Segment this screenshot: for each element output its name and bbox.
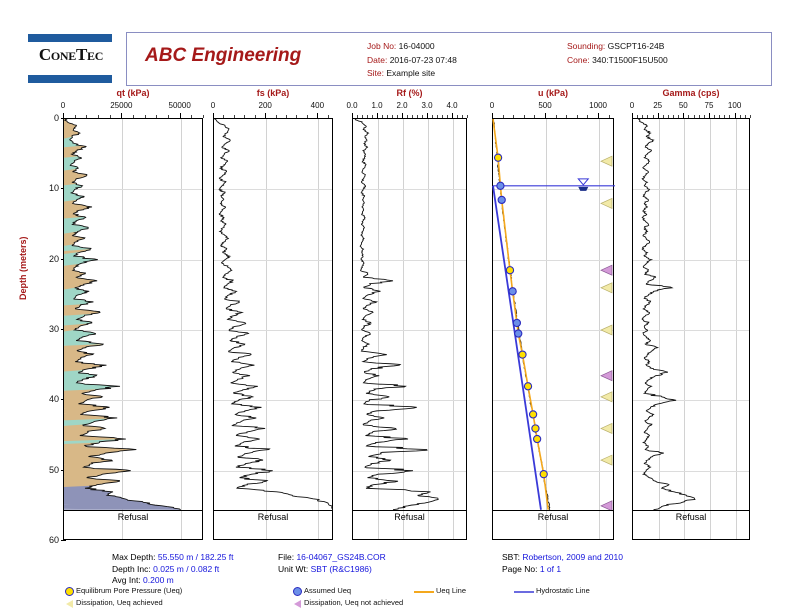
footer-field-depth-inc: Depth Inc: 0.025 m / 0.082 ft bbox=[112, 564, 233, 576]
header-info-box: ABC Engineering Job No: 16-04000 Date: 2… bbox=[126, 32, 772, 86]
refusal-line bbox=[64, 510, 202, 511]
axis-minor-tick bbox=[328, 115, 329, 118]
refusal-label: Refusal bbox=[64, 512, 202, 522]
company-name: ABC Engineering bbox=[145, 45, 301, 67]
refusal-line bbox=[214, 510, 332, 511]
ueq-line bbox=[493, 119, 548, 510]
tick-label-fs-1: 200 bbox=[258, 101, 271, 110]
axis-minor-tick bbox=[699, 115, 700, 118]
curve-qt bbox=[64, 119, 204, 541]
axis-minor-tick bbox=[86, 115, 87, 118]
axis-minor-tick bbox=[244, 115, 245, 118]
axis-minor-tick bbox=[513, 115, 514, 118]
curve-Rf bbox=[353, 119, 468, 541]
axis-minor-tick bbox=[637, 115, 638, 118]
legend-label-0: Equilibrum Pore Pressure (Ueq) bbox=[76, 586, 182, 595]
logo-bar-bottom bbox=[28, 75, 112, 83]
axis-minor-tick bbox=[447, 115, 448, 118]
tick-label-u-0: 0 bbox=[490, 101, 494, 110]
tick-label-qt-2: 50000 bbox=[169, 101, 191, 110]
axis-minor-tick bbox=[422, 115, 423, 118]
tick-label-fs-0: 0 bbox=[211, 101, 215, 110]
sbt-band bbox=[64, 252, 98, 267]
axis-minor-tick bbox=[704, 115, 705, 118]
tick-label-qt-0: 0 bbox=[61, 101, 65, 110]
footer-field-file-value: 16-04067_GS24B.COR bbox=[296, 552, 385, 562]
axis-minor-tick bbox=[688, 115, 689, 118]
hydrostatic-line-icon bbox=[512, 587, 536, 596]
footer-field-max-depth-key: Max Depth: bbox=[112, 552, 155, 562]
footer-field-avg-int-key: Avg Int: bbox=[112, 575, 141, 585]
axis-major-tick bbox=[352, 113, 353, 118]
dissipation-not-achieved-marker[interactable] bbox=[601, 265, 612, 275]
equilibrium-pore-pressure-icon bbox=[62, 586, 76, 596]
legend-label-5: Hydrostatic Line bbox=[536, 586, 590, 595]
footer-field-page-no-key: Page No: bbox=[502, 564, 537, 574]
legend-item-dissipation-not-achieved: Dissipation, Ueq not achieved bbox=[290, 598, 403, 608]
header-field-job-no-key: Job No: bbox=[367, 41, 396, 51]
logo-bar-top bbox=[28, 34, 112, 42]
axis-minor-tick bbox=[653, 115, 654, 118]
equilibrium-pore-pressure-marker[interactable] bbox=[540, 471, 547, 478]
tick-label-Gamma-0: 0 bbox=[630, 101, 634, 110]
tick-label-Rf-4: 4.0 bbox=[446, 101, 457, 110]
header-field-site-key: Site: bbox=[367, 68, 384, 78]
axis-major-tick bbox=[180, 113, 181, 118]
legend-item-hydrostatic-line: Hydrostatic Line bbox=[512, 586, 590, 596]
track-ticks-qt: 02500050000 bbox=[63, 101, 203, 112]
water-table-icon bbox=[578, 179, 588, 191]
tick-label-Gamma-2: 50 bbox=[679, 101, 688, 110]
axis-minor-tick bbox=[719, 115, 720, 118]
header-field-cone: Cone: 340:T1500F15U500 bbox=[567, 54, 668, 68]
axis-minor-tick bbox=[203, 115, 204, 118]
axis-minor-tick bbox=[729, 115, 730, 118]
tick-label-u-2: 1000 bbox=[589, 101, 607, 110]
axis-major-tick bbox=[658, 113, 659, 118]
axis-minor-tick bbox=[457, 115, 458, 118]
tick-label-Rf-0: 0.0 bbox=[346, 101, 357, 110]
data-trace-Gamma bbox=[638, 119, 695, 510]
axis-minor-tick bbox=[577, 115, 578, 118]
track-axis-ticks-Gamma bbox=[632, 113, 750, 118]
footer-field-max-depth-value: 55.550 m / 182.25 ft bbox=[158, 552, 234, 562]
axis-minor-tick bbox=[609, 115, 610, 118]
refusal-line bbox=[633, 510, 749, 511]
logo-wordmark: ConeTec bbox=[24, 45, 118, 65]
data-trace-Rf bbox=[355, 119, 438, 510]
tick-label-u-1: 500 bbox=[538, 101, 551, 110]
header-field-date: Date: 2016-07-23 07:48 bbox=[367, 54, 457, 68]
dissipation-not-achieved-icon bbox=[290, 599, 304, 608]
axis-minor-tick bbox=[442, 115, 443, 118]
cpt-log-tracks: qt (kPa)02500050000Refusalfs (kPa)020040… bbox=[0, 88, 792, 548]
track-ticks-u: 05001000 bbox=[492, 101, 614, 112]
footer-block-sbt-info: SBT: Robertson, 2009 and 2010 Page No: 1… bbox=[502, 552, 623, 575]
axis-minor-tick bbox=[156, 115, 157, 118]
footer-field-depth-inc-key: Depth Inc: bbox=[112, 564, 151, 574]
header-field-cone-key: Cone: bbox=[567, 55, 590, 65]
equilibrium-pore-pressure-marker[interactable] bbox=[519, 351, 526, 358]
plot-legend: Equilibrum Pore Pressure (Ueq) Dissipati… bbox=[62, 586, 782, 610]
axis-minor-tick bbox=[110, 115, 111, 118]
tick-label-Rf-1: 1.0 bbox=[371, 101, 382, 110]
axis-major-tick bbox=[427, 113, 428, 118]
header-field-sounding: Sounding: GSCPT16-24B bbox=[567, 40, 668, 54]
axis-major-tick bbox=[683, 113, 684, 118]
legend-item-equilibrium-pore-pressure: Equilibrum Pore Pressure (Ueq) bbox=[62, 586, 182, 596]
data-trace-u bbox=[494, 119, 550, 510]
footer-field-unit-wt-key: Unit Wt: bbox=[278, 564, 308, 574]
footer-field-page-no-value: 1 of 1 bbox=[540, 564, 561, 574]
ueq-line-icon bbox=[412, 587, 436, 596]
footer-field-sbt-key: SBT: bbox=[502, 552, 520, 562]
axis-minor-tick bbox=[255, 115, 256, 118]
conetec-logo: ConeTec bbox=[22, 32, 118, 84]
track-ticks-Gamma: 0255075100 bbox=[632, 101, 750, 112]
footer-field-file-key: File: bbox=[278, 552, 294, 562]
header-field-cone-value: 340:T1500F15U500 bbox=[592, 55, 668, 65]
tick-label-Gamma-4: 100 bbox=[728, 101, 741, 110]
footer-field-page-no: Page No: 1 of 1 bbox=[502, 564, 623, 576]
header-field-date-key: Date: bbox=[367, 55, 387, 65]
axis-minor-tick bbox=[437, 115, 438, 118]
axis-minor-tick bbox=[587, 115, 588, 118]
track-Gamma[interactable]: Refusal bbox=[632, 118, 750, 540]
header-field-site-value: Example site bbox=[386, 68, 435, 78]
footer-field-avg-int: Avg Int: 0.200 m bbox=[112, 575, 233, 587]
refusal-line bbox=[353, 510, 466, 511]
axis-minor-tick bbox=[524, 115, 525, 118]
axis-minor-tick bbox=[191, 115, 192, 118]
header-field-site: Site: Example site bbox=[367, 67, 457, 81]
footer-field-max-depth: Max Depth: 55.550 m / 182.25 ft bbox=[112, 552, 233, 564]
axis-major-tick bbox=[377, 113, 378, 118]
axis-minor-tick bbox=[745, 115, 746, 118]
axis-major-tick bbox=[265, 113, 266, 118]
axis-minor-tick bbox=[276, 115, 277, 118]
refusal-label: Refusal bbox=[214, 512, 332, 522]
track-Rf[interactable]: Refusal bbox=[352, 118, 467, 540]
axis-major-tick bbox=[121, 113, 122, 118]
equilibrium-pore-pressure-marker[interactable] bbox=[530, 411, 537, 418]
axis-minor-tick bbox=[392, 115, 393, 118]
refusal-label: Refusal bbox=[493, 512, 613, 522]
dissipation-achieved-marker[interactable] bbox=[601, 325, 612, 335]
axis-minor-tick bbox=[407, 115, 408, 118]
dissipation-not-achieved-marker[interactable] bbox=[601, 371, 612, 381]
equilibrium-pore-pressure-marker[interactable] bbox=[534, 435, 541, 442]
sbt-band bbox=[64, 200, 92, 220]
axis-minor-tick bbox=[462, 115, 463, 118]
curve-fs bbox=[214, 119, 334, 541]
axis-minor-tick bbox=[740, 115, 741, 118]
dissipation-achieved-marker[interactable] bbox=[601, 455, 612, 465]
tick-label-Rf-3: 3.0 bbox=[421, 101, 432, 110]
header-fields-left: Job No: 16-04000 Date: 2016-07-23 07:48 … bbox=[367, 40, 457, 81]
track-ticks-Rf: 0.01.02.03.04.0 bbox=[352, 101, 467, 112]
dissipation-achieved-marker[interactable] bbox=[601, 392, 612, 402]
legend-item-dissipation-achieved: Dissipation, Ueq achieved bbox=[62, 598, 163, 608]
dissipation-achieved-marker[interactable] bbox=[601, 156, 612, 166]
axis-minor-tick bbox=[223, 115, 224, 118]
axis-minor-tick bbox=[642, 115, 643, 118]
track-axis-ticks-qt bbox=[63, 113, 203, 118]
equilibrium-pore-pressure-marker[interactable] bbox=[506, 267, 513, 274]
track-title-u: u (kPa) bbox=[492, 88, 614, 98]
report-header: ConeTec ABC Engineering Job No: 16-04000… bbox=[22, 32, 770, 88]
footer-block-depth-info: Max Depth: 55.550 m / 182.25 ft Depth In… bbox=[112, 552, 233, 587]
axis-minor-tick bbox=[432, 115, 433, 118]
axis-minor-tick bbox=[362, 115, 363, 118]
legend-label-4: Ueq Line bbox=[436, 586, 466, 595]
axis-minor-tick bbox=[98, 115, 99, 118]
refusal-line bbox=[493, 510, 613, 511]
equilibrium-pore-pressure-marker[interactable] bbox=[494, 154, 501, 161]
axis-minor-tick bbox=[296, 115, 297, 118]
track-title-qt: qt (kPa) bbox=[63, 88, 203, 98]
axis-minor-tick bbox=[673, 115, 674, 118]
axis-major-tick bbox=[63, 113, 64, 118]
footer-field-sbt: SBT: Robertson, 2009 and 2010 bbox=[502, 552, 623, 564]
axis-minor-tick bbox=[694, 115, 695, 118]
axis-minor-tick bbox=[286, 115, 287, 118]
axis-minor-tick bbox=[724, 115, 725, 118]
footer-block-file-info: File: 16-04067_GS24B.COR Unit Wt: SBT (R… bbox=[278, 552, 386, 575]
axis-minor-tick bbox=[133, 115, 134, 118]
footer-field-unit-wt: Unit Wt: SBT (R&C1986) bbox=[278, 564, 386, 576]
track-fs[interactable]: Refusal bbox=[213, 118, 333, 540]
assumed-ueq-marker[interactable] bbox=[497, 182, 504, 189]
axis-minor-tick bbox=[663, 115, 664, 118]
legend-item-ueq-line: Ueq Line bbox=[412, 586, 466, 596]
header-field-job-no-value: 16-04000 bbox=[399, 41, 435, 51]
tick-label-Gamma-3: 75 bbox=[705, 101, 714, 110]
dissipation-achieved-icon bbox=[62, 599, 76, 608]
assumed-ueq-marker[interactable] bbox=[498, 196, 505, 203]
header-field-date-value: 2016-07-23 07:48 bbox=[390, 55, 457, 65]
footer-field-sbt-value: Robertson, 2009 and 2010 bbox=[522, 552, 623, 562]
equilibrium-pore-pressure-marker[interactable] bbox=[532, 425, 539, 432]
curve-Gamma bbox=[633, 119, 751, 541]
track-axis-ticks-fs bbox=[213, 113, 333, 118]
equilibrium-pore-pressure-marker[interactable] bbox=[524, 383, 531, 390]
axis-minor-tick bbox=[145, 115, 146, 118]
axis-minor-tick bbox=[647, 115, 648, 118]
header-field-sounding-key: Sounding: bbox=[567, 41, 605, 51]
axis-minor-tick bbox=[566, 115, 567, 118]
axis-minor-tick bbox=[668, 115, 669, 118]
header-field-job-no: Job No: 16-04000 bbox=[367, 40, 457, 54]
legend-label-2: Assumed Ueq bbox=[304, 586, 351, 595]
data-trace-fs bbox=[215, 119, 333, 510]
axis-minor-tick bbox=[417, 115, 418, 118]
header-field-sounding-value: GSCPT16-24B bbox=[608, 41, 665, 51]
legend-item-assumed-ueq: Assumed Ueq bbox=[290, 586, 351, 596]
footer-field-unit-wt-value: SBT (R&C1986) bbox=[311, 564, 372, 574]
tick-label-qt-1: 25000 bbox=[110, 101, 132, 110]
axis-minor-tick bbox=[397, 115, 398, 118]
axis-minor-tick bbox=[75, 115, 76, 118]
axis-major-tick bbox=[452, 113, 453, 118]
axis-major-tick bbox=[402, 113, 403, 118]
footer-field-avg-int-value: 0.200 m bbox=[143, 575, 174, 585]
axis-minor-tick bbox=[372, 115, 373, 118]
track-axis-ticks-u bbox=[492, 113, 614, 118]
axis-minor-tick bbox=[556, 115, 557, 118]
axis-major-tick bbox=[492, 113, 493, 118]
assumed-ueq-marker[interactable] bbox=[515, 330, 522, 337]
axis-major-tick bbox=[598, 113, 599, 118]
assumed-ueq-icon bbox=[290, 586, 304, 596]
axis-minor-tick bbox=[467, 115, 468, 118]
tick-label-fs-2: 400 bbox=[311, 101, 324, 110]
refusal-label: Refusal bbox=[633, 512, 749, 522]
dissipation-achieved-marker[interactable] bbox=[601, 198, 612, 208]
refusal-label: Refusal bbox=[353, 512, 466, 522]
axis-minor-tick bbox=[750, 115, 751, 118]
axis-minor-tick bbox=[412, 115, 413, 118]
axis-minor-tick bbox=[714, 115, 715, 118]
axis-major-tick bbox=[632, 113, 633, 118]
axis-minor-tick bbox=[387, 115, 388, 118]
header-fields-right: Sounding: GSCPT16-24B Cone: 340:T1500F15… bbox=[567, 40, 668, 67]
track-title-Rf: Rf (%) bbox=[352, 88, 467, 98]
axis-minor-tick bbox=[382, 115, 383, 118]
axis-major-tick bbox=[317, 113, 318, 118]
axis-minor-tick bbox=[534, 115, 535, 118]
report-footer: Max Depth: 55.550 m / 182.25 ft Depth In… bbox=[0, 548, 792, 612]
assumed-ueq-marker[interactable] bbox=[513, 319, 520, 326]
track-title-fs: fs (kPa) bbox=[213, 88, 333, 98]
tick-label-Rf-2: 2.0 bbox=[396, 101, 407, 110]
track-ticks-fs: 0200400 bbox=[213, 101, 333, 112]
sbt-band bbox=[64, 370, 120, 393]
dissipation-achieved-marker[interactable] bbox=[601, 283, 612, 293]
track-title-Gamma: Gamma (cps) bbox=[632, 88, 750, 98]
legend-label-1: Dissipation, Ueq achieved bbox=[76, 598, 163, 607]
footer-field-depth-inc-value: 0.025 m / 0.082 ft bbox=[153, 564, 219, 574]
axis-major-tick bbox=[545, 113, 546, 118]
axis-minor-tick bbox=[503, 115, 504, 118]
axis-major-tick bbox=[735, 113, 736, 118]
legend-label-3: Dissipation, Ueq not achieved bbox=[304, 598, 403, 607]
axis-major-tick bbox=[213, 113, 214, 118]
track-axis-ticks-Rf bbox=[352, 113, 467, 118]
axis-minor-tick bbox=[678, 115, 679, 118]
axis-minor-tick bbox=[234, 115, 235, 118]
axis-minor-tick bbox=[168, 115, 169, 118]
track-u[interactable]: Refusal bbox=[492, 118, 614, 540]
axis-minor-tick bbox=[357, 115, 358, 118]
axis-minor-tick bbox=[307, 115, 308, 118]
axis-minor-tick bbox=[367, 115, 368, 118]
axis-major-tick bbox=[709, 113, 710, 118]
hydrostatic-line bbox=[493, 186, 541, 510]
dissipation-achieved-marker[interactable] bbox=[601, 423, 612, 433]
assumed-ueq-marker[interactable] bbox=[509, 288, 516, 295]
footer-field-file: File: 16-04067_GS24B.COR bbox=[278, 552, 386, 564]
tick-label-Gamma-1: 25 bbox=[653, 101, 662, 110]
track-qt[interactable]: Refusal bbox=[63, 118, 203, 540]
curve-u bbox=[493, 119, 615, 541]
